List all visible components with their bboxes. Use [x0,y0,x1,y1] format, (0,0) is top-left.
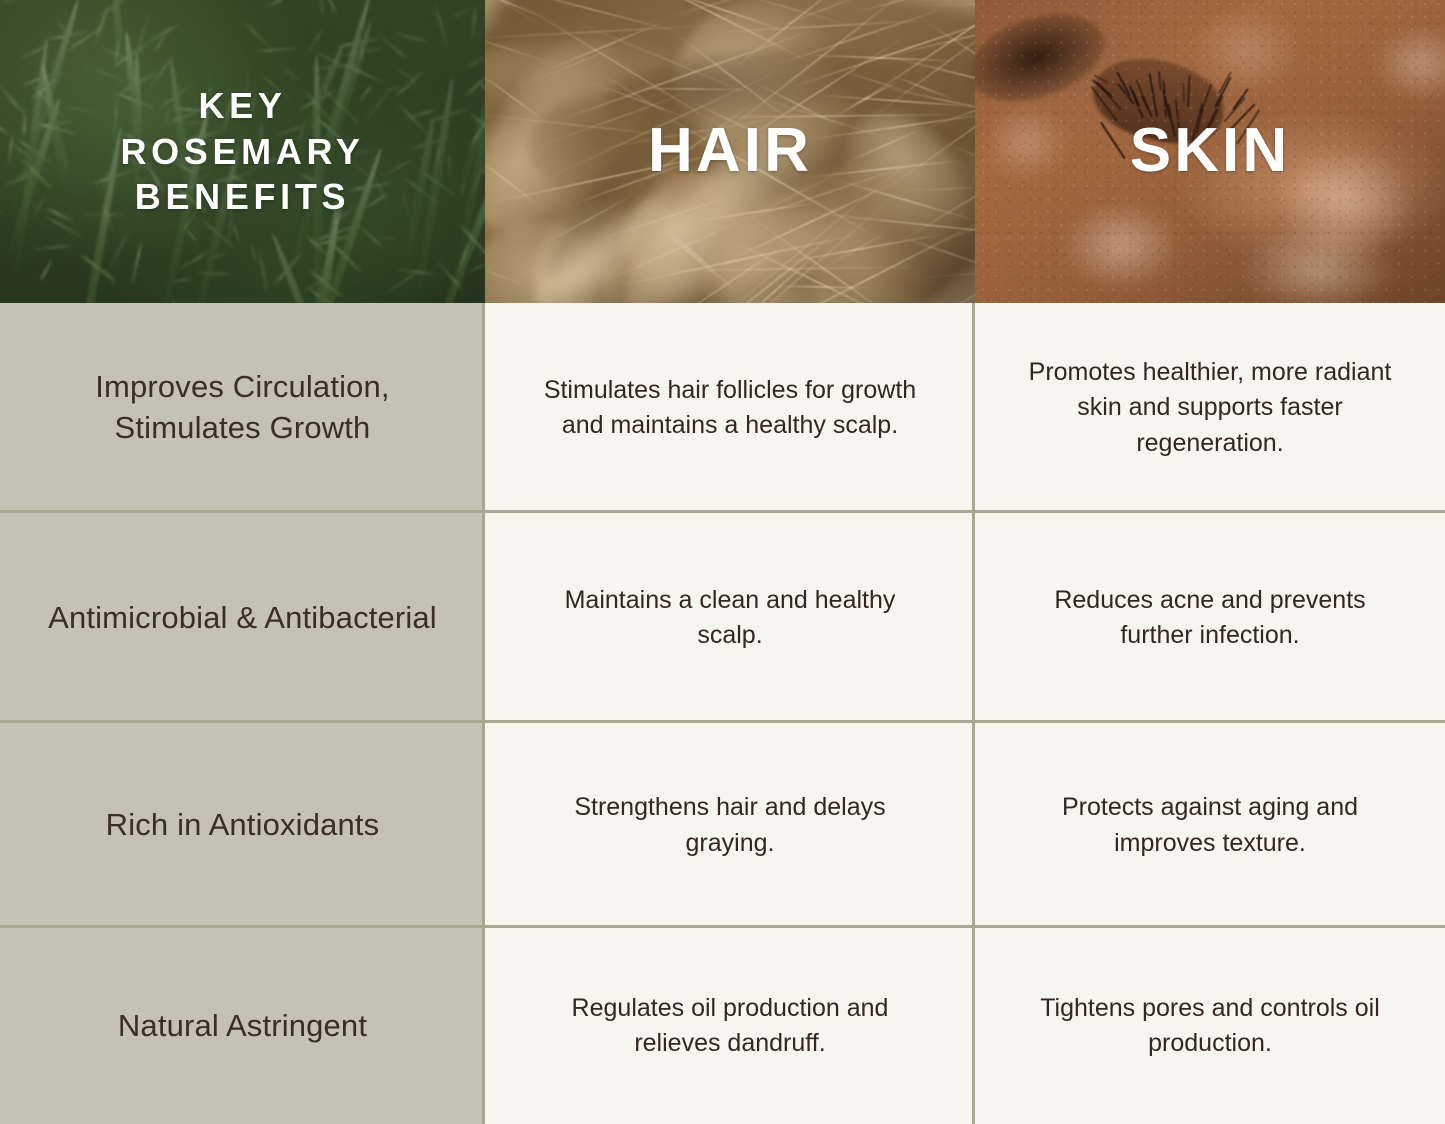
hair-benefit-text: Regulates oil production and relieves da… [533,991,927,1062]
header-title-hair: HAIR [648,112,812,191]
table-row: Antimicrobial & Antibacterial [0,513,485,723]
skin-benefit-cell: Reduces acne and prevents further infect… [975,513,1445,723]
skin-benefit-cell: Promotes healthier, more radiant skin an… [975,303,1445,513]
table-row: Natural Astringent [0,928,485,1124]
hair-benefit-cell: Regulates oil production and relieves da… [485,928,975,1124]
header-cell-key-benefits: KEY ROSEMARY BENEFITS [0,0,485,303]
table-row: Improves Circulation, Stimulates Growth [0,303,485,513]
rosemary-benefits-table: KEY ROSEMARY BENEFITS HAIR SKIN Improves… [0,0,1445,1124]
hair-benefit-cell: Strengthens hair and delays graying. [485,723,975,928]
table-row: Rich in Antioxidants [0,723,485,928]
header-cell-hair: HAIR [485,0,975,303]
header-title-key-benefits: KEY ROSEMARY BENEFITS [98,83,388,220]
benefit-label: Rich in Antioxidants [34,805,451,846]
hair-benefit-text: Maintains a clean and healthy scalp. [533,583,927,654]
header-cell-skin: SKIN [975,0,1445,303]
hair-benefit-text: Stimulates hair follicles for growth and… [533,373,927,444]
skin-benefit-text: Promotes healthier, more radiant skin an… [1023,355,1397,462]
skin-benefit-text: Reduces acne and prevents further infect… [1023,583,1397,654]
benefit-label: Antimicrobial & Antibacterial [34,598,451,639]
skin-benefit-text: Protects against aging and improves text… [1023,790,1397,861]
skin-benefit-text: Tightens pores and controls oil producti… [1023,991,1397,1062]
hair-benefit-cell: Stimulates hair follicles for growth and… [485,303,975,513]
header-title-skin: SKIN [1130,112,1291,191]
benefit-label: Natural Astringent [34,1006,451,1047]
hair-benefit-cell: Maintains a clean and healthy scalp. [485,513,975,723]
benefit-label: Improves Circulation, Stimulates Growth [34,367,451,449]
skin-benefit-cell: Tightens pores and controls oil producti… [975,928,1445,1124]
skin-benefit-cell: Protects against aging and improves text… [975,723,1445,928]
hair-benefit-text: Strengthens hair and delays graying. [533,790,927,861]
